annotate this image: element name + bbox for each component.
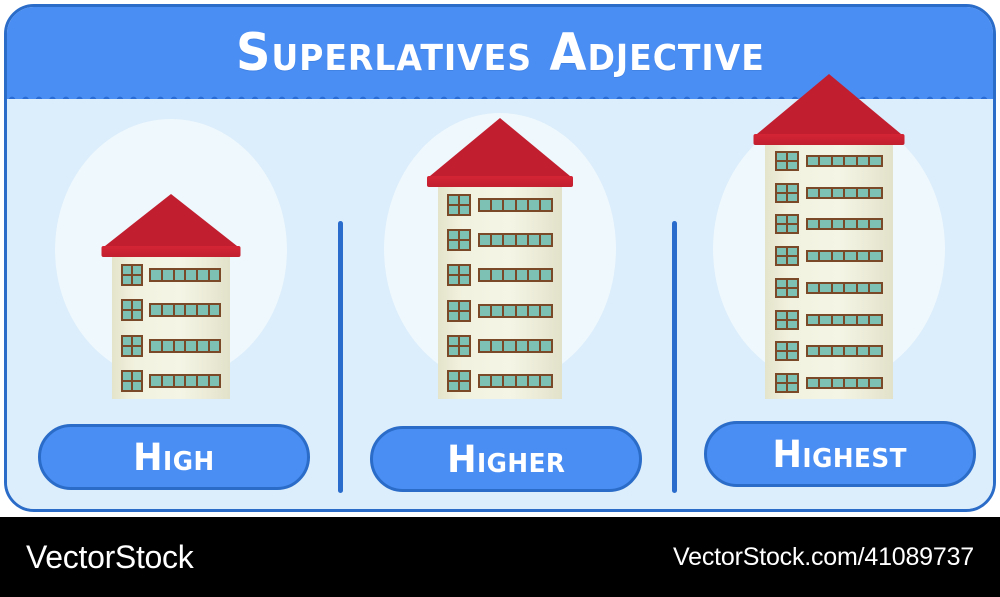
small-window (775, 310, 799, 330)
window-pane (492, 200, 504, 210)
window-pane (870, 316, 881, 324)
label-pill-highest-text: Highest (773, 433, 907, 476)
small-window (775, 278, 799, 298)
window-pane (845, 220, 858, 228)
window-pane (845, 379, 858, 387)
roof-eave (102, 246, 241, 257)
building-floor (765, 209, 893, 241)
window-pane (480, 376, 492, 386)
window-pane (845, 284, 858, 292)
window-pane (529, 376, 541, 386)
building-floor (765, 304, 893, 336)
window-pane (175, 270, 187, 280)
label-pill-high-text: High (133, 436, 214, 479)
strip-window (806, 345, 883, 357)
window-pane (210, 376, 220, 386)
window-pane (198, 376, 210, 386)
label-pill-higher[interactable]: Higher (370, 426, 642, 492)
building-higher (438, 187, 562, 399)
building-floor (438, 258, 562, 293)
window-pane (820, 157, 833, 165)
window-pane (541, 341, 551, 351)
small-window (775, 214, 799, 234)
window-pane (845, 157, 858, 165)
window-pane (541, 306, 551, 316)
window-pane (480, 270, 492, 280)
small-window (775, 373, 799, 393)
strip-window (806, 250, 883, 262)
window-pane (186, 341, 198, 351)
window-pane (808, 347, 821, 355)
small-window (775, 341, 799, 361)
window-pane (845, 189, 858, 197)
window-pane (163, 341, 175, 351)
strip-window (806, 282, 883, 294)
strip-window (149, 268, 221, 282)
small-window (121, 299, 143, 321)
window-pane (480, 341, 492, 351)
small-window (447, 300, 471, 322)
window-pane (858, 189, 871, 197)
window-pane (186, 270, 198, 280)
window-pane (163, 376, 175, 386)
window-pane (820, 252, 833, 260)
window-pane (858, 316, 871, 324)
window-pane (480, 306, 492, 316)
label-pill-high[interactable]: High (38, 424, 310, 490)
strip-window (806, 377, 883, 389)
window-pane (517, 270, 529, 280)
window-pane (480, 235, 492, 245)
window-pane (820, 379, 833, 387)
window-pane (870, 284, 881, 292)
building-floor (438, 364, 562, 399)
window-pane (870, 347, 881, 355)
small-window (775, 183, 799, 203)
window-pane (504, 341, 516, 351)
building-floor (112, 257, 230, 293)
window-pane (186, 305, 198, 315)
strip-window (149, 374, 221, 388)
building-floor (765, 336, 893, 368)
watermark-footer: VectorStock VectorStock.com/41089737 (0, 517, 1000, 597)
building-floor (765, 145, 893, 177)
window-pane (541, 376, 551, 386)
window-pane (808, 189, 821, 197)
window-pane (858, 220, 871, 228)
window-pane (529, 270, 541, 280)
window-pane (858, 157, 871, 165)
window-pane (517, 235, 529, 245)
window-pane (517, 341, 529, 351)
window-pane (151, 341, 163, 351)
window-pane (808, 252, 821, 260)
window-pane (833, 189, 846, 197)
window-pane (504, 306, 516, 316)
window-pane (820, 189, 833, 197)
window-pane (808, 316, 821, 324)
window-pane (870, 379, 881, 387)
window-pane (517, 306, 529, 316)
roof-triangle-icon (430, 118, 570, 176)
small-window (447, 194, 471, 216)
small-window (121, 370, 143, 392)
window-pane (163, 305, 175, 315)
window-pane (858, 379, 871, 387)
roof-triangle-icon (757, 74, 901, 134)
window-pane (210, 341, 220, 351)
window-pane (845, 347, 858, 355)
window-pane (820, 316, 833, 324)
building-floor (765, 240, 893, 272)
window-pane (504, 376, 516, 386)
strip-window (478, 198, 553, 212)
window-pane (870, 252, 881, 260)
window-pane (504, 200, 516, 210)
strip-window (478, 374, 553, 388)
building-floor (112, 364, 230, 400)
building-floor (765, 367, 893, 399)
window-pane (820, 284, 833, 292)
page-title: Superlatives Adjective (236, 23, 765, 83)
window-pane (858, 347, 871, 355)
window-pane (175, 341, 187, 351)
small-window (447, 370, 471, 392)
small-window (121, 335, 143, 357)
window-pane (492, 306, 504, 316)
label-pill-higher-text: Higher (447, 438, 565, 481)
window-pane (517, 200, 529, 210)
strip-window (149, 339, 221, 353)
window-pane (492, 235, 504, 245)
building-facade (765, 145, 893, 399)
window-pane (504, 235, 516, 245)
strip-window (149, 303, 221, 317)
window-pane (175, 305, 187, 315)
window-pane (492, 270, 504, 280)
small-window (447, 229, 471, 251)
building-floor (438, 328, 562, 363)
infographic-card: Superlatives Adjective High (4, 4, 996, 512)
roof-eave (753, 134, 904, 145)
label-pill-highest[interactable]: Highest (704, 421, 976, 487)
strip-window (806, 314, 883, 326)
window-pane (175, 376, 187, 386)
window-pane (541, 270, 551, 280)
window-pane (870, 220, 881, 228)
strip-window (478, 233, 553, 247)
window-pane (858, 284, 871, 292)
card-body: High Higher Highest (7, 99, 993, 512)
window-pane (833, 347, 846, 355)
window-pane (504, 270, 516, 280)
building-floor (438, 293, 562, 328)
window-pane (870, 157, 881, 165)
building-floor (765, 272, 893, 304)
window-pane (808, 220, 821, 228)
window-pane (808, 157, 821, 165)
vectorstock-wordmark: VectorStock (26, 539, 193, 576)
window-pane (198, 305, 210, 315)
strip-window (478, 268, 553, 282)
window-pane (833, 284, 846, 292)
window-pane (517, 376, 529, 386)
window-pane (820, 220, 833, 228)
window-pane (541, 235, 551, 245)
window-pane (845, 252, 858, 260)
building-floor (765, 177, 893, 209)
window-pane (833, 157, 846, 165)
strip-window (478, 304, 553, 318)
window-pane (151, 376, 163, 386)
small-window (447, 335, 471, 357)
window-pane (845, 316, 858, 324)
building-high (112, 257, 230, 399)
strip-window (806, 218, 883, 230)
roof-eave (427, 176, 573, 187)
window-pane (820, 347, 833, 355)
window-pane (529, 235, 541, 245)
building-floor (438, 222, 562, 257)
building-facade (438, 187, 562, 399)
small-window (775, 151, 799, 171)
window-pane (529, 341, 541, 351)
window-pane (529, 306, 541, 316)
window-pane (210, 270, 220, 280)
window-pane (186, 376, 198, 386)
building-floor (112, 293, 230, 329)
window-pane (541, 200, 551, 210)
vectorstock-url: VectorStock.com/41089737 (673, 543, 974, 572)
window-pane (198, 341, 210, 351)
window-pane (808, 379, 821, 387)
building-floor (112, 328, 230, 364)
window-pane (210, 305, 220, 315)
roof-triangle-icon (105, 194, 237, 246)
window-pane (833, 379, 846, 387)
window-pane (492, 376, 504, 386)
panel-divider-2 (672, 221, 677, 493)
window-pane (833, 220, 846, 228)
small-window (775, 246, 799, 266)
building-highest (765, 145, 893, 399)
window-pane (858, 252, 871, 260)
window-pane (151, 305, 163, 315)
small-window (121, 264, 143, 286)
window-pane (529, 200, 541, 210)
window-pane (163, 270, 175, 280)
small-window (447, 264, 471, 286)
window-pane (833, 252, 846, 260)
window-pane (480, 200, 492, 210)
strip-window (806, 187, 883, 199)
window-pane (198, 270, 210, 280)
window-pane (833, 316, 846, 324)
strip-window (478, 339, 553, 353)
window-pane (151, 270, 163, 280)
window-pane (808, 284, 821, 292)
window-pane (870, 189, 881, 197)
strip-window (806, 155, 883, 167)
building-facade (112, 257, 230, 399)
panel-divider-1 (338, 221, 343, 493)
building-floor (438, 187, 562, 222)
window-pane (492, 341, 504, 351)
